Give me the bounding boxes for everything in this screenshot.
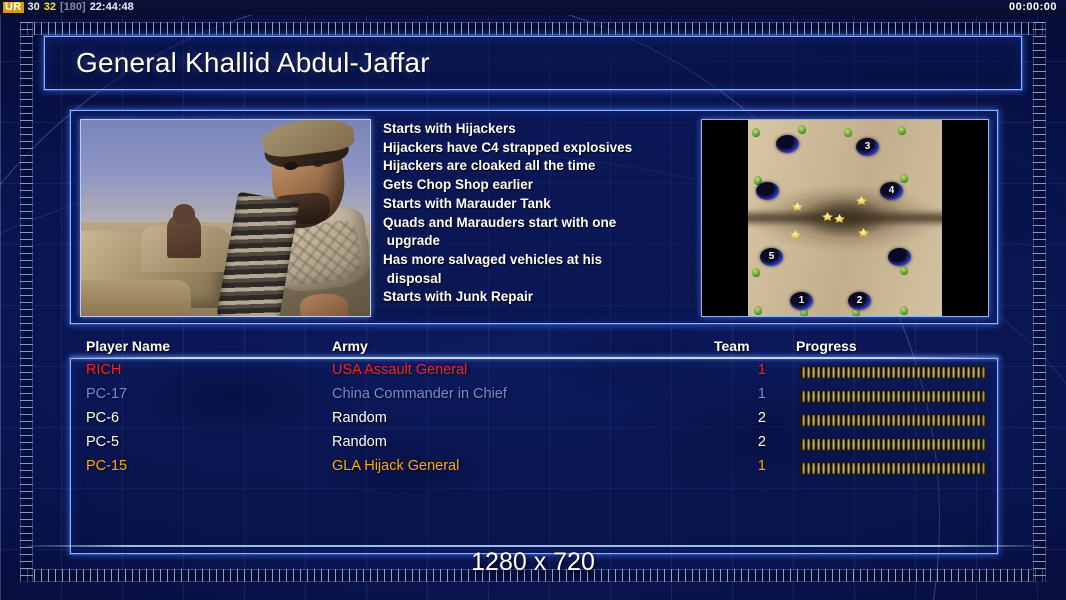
ability-line: Starts with Marauder Tank	[383, 195, 691, 214]
player-team-cell: 1	[746, 362, 766, 378]
player-progress-bar	[800, 390, 986, 403]
game-screen: UR 30 32 [180] 22:44:48 00:00:00 General…	[0, 0, 1066, 600]
player-progress-bar	[800, 438, 986, 451]
minimap-start-position[interactable]: 3	[856, 138, 879, 156]
globe-meridian-line	[0, 0, 1, 600]
minimap-start-position[interactable]: 4	[880, 182, 903, 200]
column-header-army: Army	[332, 338, 368, 354]
player-progress-bar	[800, 366, 986, 379]
ability-line: disposal	[383, 270, 691, 289]
minimap-start-position[interactable]: 2	[848, 292, 871, 310]
page-title: General Khallid Abdul-Jaffar	[76, 47, 430, 79]
ability-line: Has more salvaged vehicles at his	[383, 251, 691, 270]
status-clock: 22:44:48	[90, 2, 134, 13]
player-army-cell: Random	[332, 410, 387, 426]
header-separator	[70, 357, 1000, 359]
minimap-tree-icon	[798, 125, 806, 134]
general-info-panel: Starts with HijackersHijackers have C4 s…	[70, 110, 998, 324]
minimap-start-position[interactable]	[776, 135, 799, 153]
player-table-header: Player Name Army Team Progress	[86, 338, 986, 358]
minimap-preview: 34512	[701, 119, 989, 317]
portrait-artwork	[81, 120, 370, 316]
player-army-cell: GLA Hijack General	[332, 458, 459, 474]
ruler-right	[1033, 22, 1046, 582]
player-army-cell: USA Assault General	[332, 362, 467, 378]
ruler-left	[20, 22, 33, 582]
ability-line: Starts with Junk Repair	[383, 288, 691, 307]
portrait-rock-3	[81, 280, 191, 316]
player-team-cell: 1	[746, 458, 766, 474]
player-name-cell: PC-15	[86, 458, 127, 474]
ability-line: Hijackers have C4 strapped explosives	[383, 139, 691, 158]
player-progress-bar	[800, 414, 986, 427]
minimap-start-position[interactable]	[888, 248, 911, 266]
ability-line: Hijackers are cloaked all the time	[383, 157, 691, 176]
player-team-cell: 2	[746, 434, 766, 450]
player-name-cell: PC-17	[86, 386, 127, 402]
status-timer: 00:00:00	[1009, 2, 1063, 13]
status-value-1: 30	[28, 2, 40, 13]
general-portrait	[80, 119, 371, 317]
top-status-bar: UR 30 32 [180] 22:44:48 00:00:00	[0, 0, 1066, 15]
status-bracket-value: [180]	[60, 2, 86, 13]
ability-line: Starts with Hijackers	[383, 120, 691, 139]
ability-line: Quads and Marauders start with one	[383, 214, 691, 233]
column-header-progress: Progress	[796, 338, 857, 354]
minimap-tree-icon	[844, 128, 852, 137]
portrait-soldier-hand	[300, 294, 348, 316]
portrait-background-figure-head	[173, 204, 195, 224]
table-row[interactable]: PC-17China Commander in Chief1	[86, 386, 986, 410]
status-tag: UR	[3, 2, 24, 13]
minimap-start-position[interactable]	[756, 182, 779, 200]
minimap-tree-icon	[752, 128, 760, 137]
table-row[interactable]: PC-15GLA Hijack General1	[86, 458, 986, 482]
minimap-tree-icon	[752, 268, 760, 277]
player-army-cell: Random	[332, 434, 387, 450]
player-rows: RICHUSA Assault General1PC-17China Comma…	[86, 362, 986, 482]
minimap-tree-icon	[900, 174, 908, 183]
player-name-cell: PC-6	[86, 410, 119, 426]
table-row[interactable]: PC-6Random2	[86, 410, 986, 434]
minimap-river	[748, 210, 942, 226]
minimap-start-position[interactable]: 1	[790, 292, 813, 310]
player-army-cell: China Commander in Chief	[332, 386, 507, 402]
column-header-team: Team	[714, 338, 750, 354]
ability-line: upgrade	[383, 232, 691, 251]
table-row[interactable]: PC-5Random2	[86, 434, 986, 458]
player-name-cell: RICH	[86, 362, 121, 378]
ability-line: Gets Chop Shop earlier	[383, 176, 691, 195]
bottom-separator	[26, 545, 1040, 547]
minimap-tree-icon	[900, 306, 908, 315]
minimap-tree-icon	[900, 266, 908, 275]
player-team-cell: 1	[746, 386, 766, 402]
minimap-tree-icon	[754, 306, 762, 315]
status-left-group: UR 30 32 [180] 22:44:48	[3, 2, 134, 13]
player-team-cell: 2	[746, 410, 766, 426]
ruler-top	[20, 22, 1046, 35]
general-abilities-list: Starts with HijackersHijackers have C4 s…	[383, 120, 691, 307]
column-header-player-name: Player Name	[86, 338, 170, 354]
player-progress-bar	[800, 462, 986, 475]
minimap-tree-icon	[898, 126, 906, 135]
player-name-cell: PC-5	[86, 434, 119, 450]
status-value-2: 32	[44, 2, 56, 13]
table-row[interactable]: RICHUSA Assault General1	[86, 362, 986, 386]
minimap-start-position[interactable]: 5	[760, 248, 783, 266]
title-panel: General Khallid Abdul-Jaffar	[44, 36, 1022, 90]
resolution-label: 1280 x 720	[0, 548, 1066, 577]
minimap-terrain: 34512	[748, 120, 942, 316]
